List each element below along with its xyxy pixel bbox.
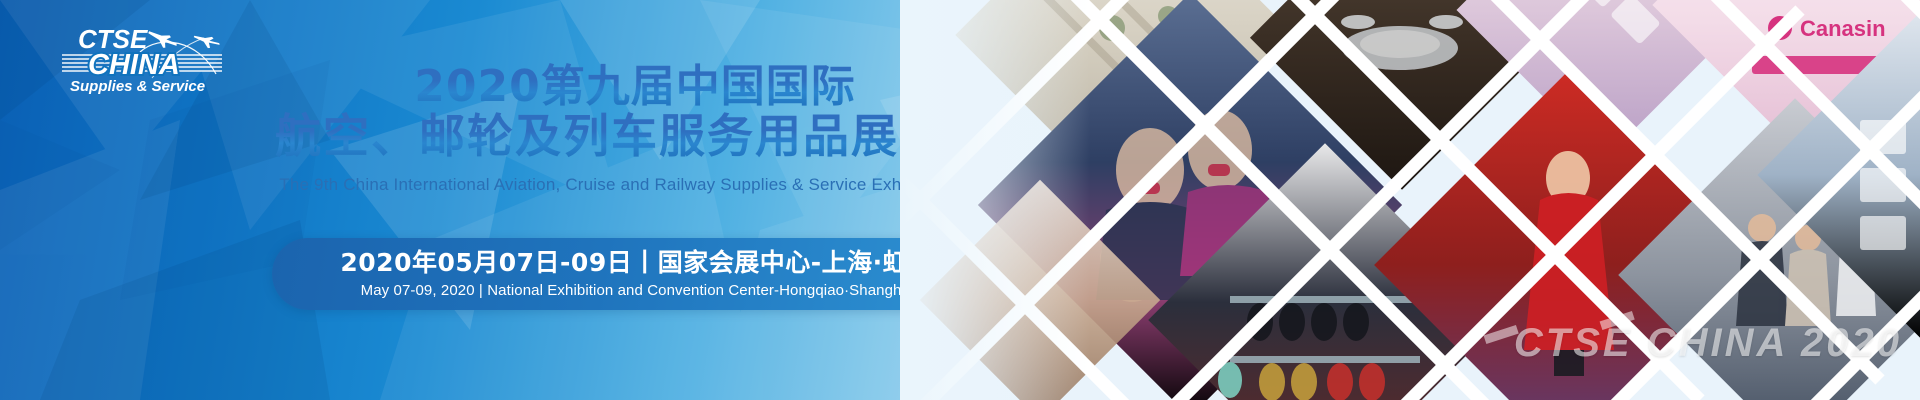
ctse-china-logo[interactable]: CTSE CHINA Supplies & Service CTSE CHINA…	[48, 18, 238, 96]
date-venue-cn: 2020年05月07日-09日丨国家会展中心-上海·虹桥	[340, 249, 933, 278]
logo-text-china: CHINA	[88, 49, 180, 81]
date-venue-banner: 2020年05月07日-09日丨国家会展中心-上海·虹桥 May 07-09, …	[272, 238, 1002, 310]
logo-tagline: Supplies & Service	[70, 78, 205, 95]
exhibition-banner: CTSE CHINA Supplies & Service CTSE CHINA…	[0, 0, 1920, 400]
photo-collage: Canasin	[900, 0, 1920, 400]
date-venue-en: May 07-09, 2020 | National Exhibition an…	[361, 282, 914, 299]
svg-text:Canasin: Canasin	[1800, 16, 1886, 41]
